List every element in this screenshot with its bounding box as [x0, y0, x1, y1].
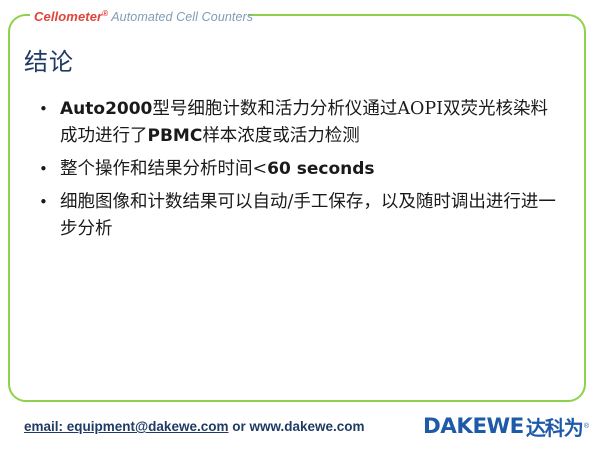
list-item-text: 细胞图像和计数结果可以自动/手工保存，以及随时调出进行进一步分析 — [60, 192, 556, 239]
bullet-marker-icon: • — [39, 156, 48, 183]
list-item: • 细胞图像和计数结果可以自动/手工保存，以及随时调出进行进一步分析 — [32, 189, 562, 243]
list-item: • 整个操作和结果分析时间<60 seconds — [32, 156, 562, 183]
bullet-marker-icon: • — [39, 189, 48, 216]
list-item-text: Auto2000型号细胞计数和活力分析仪通过AOPI双荧光核染料成功进行了PBM… — [60, 99, 548, 146]
list-item: • Auto2000型号细胞计数和活力分析仪通过AOPI双荧光核染料成功进行了P… — [32, 96, 562, 150]
dakewe-logo: DAKEWE达科为® — [424, 412, 589, 440]
brand-tagline: Automated Cell Counters — [111, 10, 253, 24]
list-item-text: 整个操作和结果分析时间<60 seconds — [60, 159, 375, 179]
website-text: www.dakewe.com — [250, 419, 365, 434]
email-link[interactable]: email: equipment@dakewe.com — [24, 419, 228, 434]
logo-latin-text: DAKEWE — [423, 414, 524, 438]
page-title: 结论 — [24, 42, 74, 77]
footer-conjunction: or — [228, 419, 249, 434]
logo-registered-trademark-icon: ® — [584, 423, 589, 430]
brand-header: Cellometer®Automated Cell Counters — [34, 5, 253, 23]
bullet-list: • Auto2000型号细胞计数和活力分析仪通过AOPI双荧光核染料成功进行了P… — [32, 96, 562, 249]
footer-contact-line: email: equipment@dakewe.com or www.dakew… — [24, 419, 365, 434]
bullet-marker-icon: • — [39, 96, 48, 123]
brand-name: Cellometer — [34, 9, 102, 24]
registered-trademark-icon: ® — [102, 9, 108, 18]
logo-chinese-text: 达科为 — [526, 412, 583, 441]
